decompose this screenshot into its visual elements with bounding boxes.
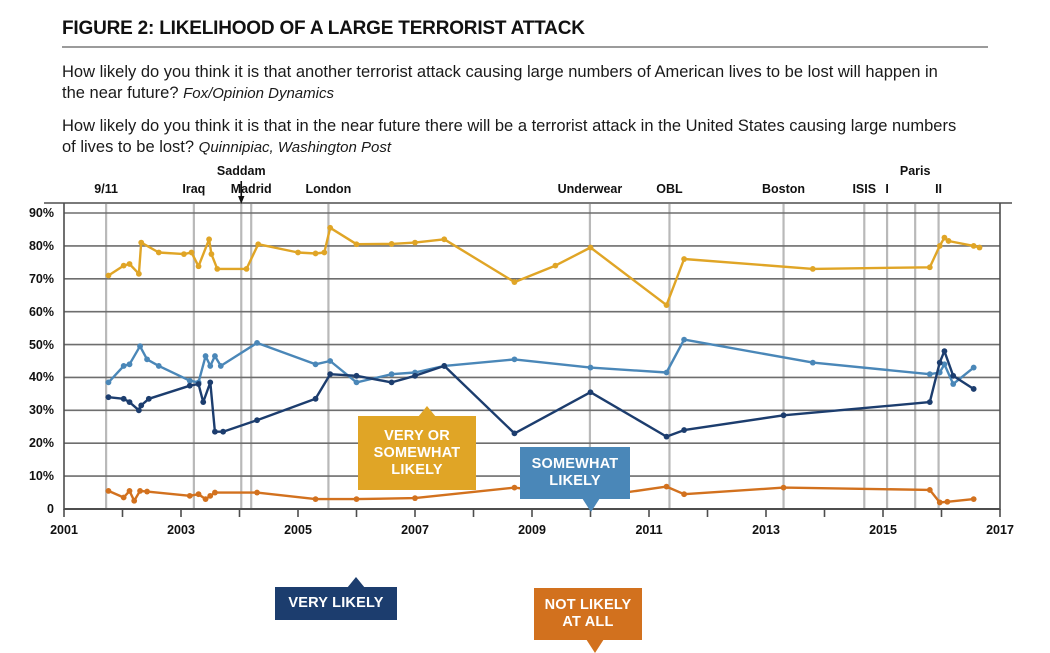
y-axis-tick-label: 70% [10,272,54,286]
y-axis-tick-label: 90% [10,206,54,220]
callout-not-likely-at-all: NOT LIKELY AT ALL [534,588,642,640]
event-marker-label: OBL [656,182,682,196]
y-axis-tick-label: 10% [10,469,54,483]
x-axis-tick-label: 2011 [635,523,662,537]
chart-plot-area: 010%20%30%40%50%60%70%80%90%200120032005… [0,160,1050,551]
callout-label: NOT LIKELY AT ALL [545,597,632,631]
event-marker-label: 9/11 [94,182,118,196]
question-1-source: Fox/Opinion Dynamics [183,85,334,102]
event-marker-label: Paris [900,164,931,178]
callout-tail [418,406,436,417]
question-2-text: How likely do you think it is that in th… [62,117,956,156]
y-axis-tick-label: 20% [10,436,54,450]
x-axis-tick-label: 2007 [401,523,429,537]
figure-container: FIGURE 2: LIKELIHOOD OF A LARGE TERRORIS… [0,0,1050,551]
event-marker-label: Saddam [217,164,266,178]
y-axis-tick-label: 30% [10,403,54,417]
x-axis-tick-label: 2009 [518,523,546,537]
event-marker-label: Boston [762,182,805,196]
x-axis-tick-label: 2003 [167,523,195,537]
event-marker-label: Iraq [182,182,205,196]
title-divider [62,46,988,48]
question-2: How likely do you think it is that in th… [62,116,962,158]
callout-label: VERY OR SOMEWHAT LIKELY [374,428,461,479]
callout-tail [586,639,604,653]
callout-label: VERY LIKELY [288,595,383,612]
event-marker-label: I [885,182,888,196]
callout-tail [347,577,365,588]
x-axis-tick-label: 2005 [284,523,312,537]
event-marker-label: London [305,182,351,196]
event-marker-label: ISIS [852,182,876,196]
x-axis-tick-label: 2001 [50,523,78,537]
callout-very-likely: VERY LIKELY [275,587,397,620]
y-axis-tick-label: 40% [10,370,54,384]
figure-title: FIGURE 2: LIKELIHOOD OF A LARGE TERRORIS… [62,18,585,40]
y-axis-tick-label: 80% [10,239,54,253]
y-axis-tick-label: 60% [10,305,54,319]
event-marker-label: Underwear [558,182,623,196]
callout-label: SOMEWHAT LIKELY [532,456,619,490]
y-axis-tick-label: 50% [10,338,54,352]
question-1: How likely do you think it is that anoth… [62,62,962,104]
callout-very-or-somewhat-likely: VERY OR SOMEWHAT LIKELY [358,416,476,490]
x-axis-tick-label: 2015 [869,523,897,537]
callout-tail [582,498,600,512]
event-marker-label: Madrid [231,182,272,196]
x-axis-tick-label: 2013 [752,523,780,537]
callout-somewhat-likely: SOMEWHAT LIKELY [520,447,630,499]
x-axis-tick-label: 2017 [986,523,1014,537]
event-marker-label: II [935,182,942,196]
y-axis-tick-label: 0 [10,502,54,516]
question-2-source: Quinnipiac, Washington Post [199,139,391,156]
